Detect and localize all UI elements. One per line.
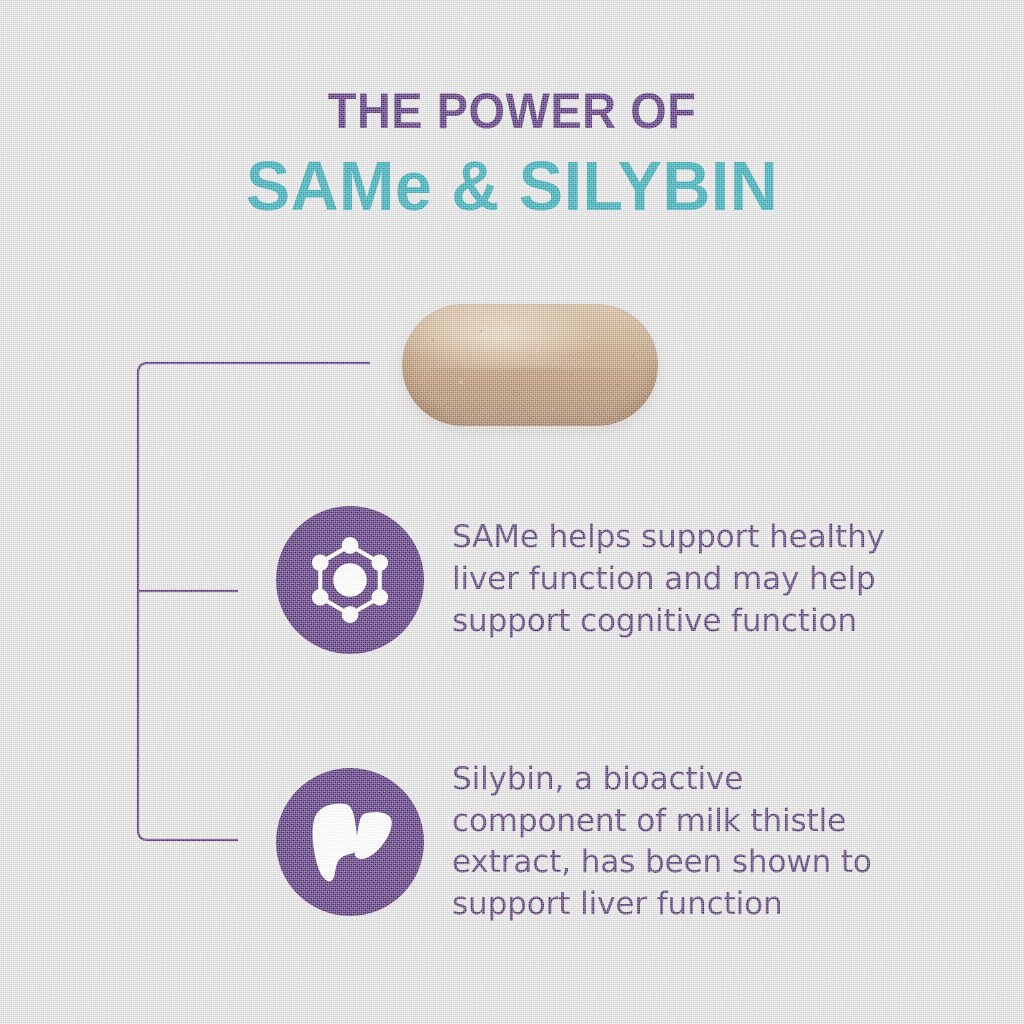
benefit-description: Silybin, a bioactive component of milk t…	[452, 759, 922, 926]
benefit-icon-badge	[276, 768, 424, 916]
product-tablet-image	[402, 304, 658, 426]
product-infographic: THE POWER OF SAMe & SILYBIN	[0, 0, 1024, 1024]
headline-line-1: THE POWER OF	[31, 86, 994, 136]
molecule-icon	[302, 532, 398, 628]
liver-icon	[304, 798, 396, 886]
benefit-icon-badge	[276, 506, 424, 654]
benefit-description: SAMe helps support healthy liver functio…	[452, 517, 922, 642]
benefit-row: SAMe helps support healthy liver functio…	[276, 506, 936, 654]
headline-line-2: SAMe & SILYBIN	[26, 151, 999, 221]
headline-block: THE POWER OF SAMe & SILYBIN	[0, 86, 1024, 221]
benefit-row: Silybin, a bioactive component of milk t…	[276, 759, 936, 926]
